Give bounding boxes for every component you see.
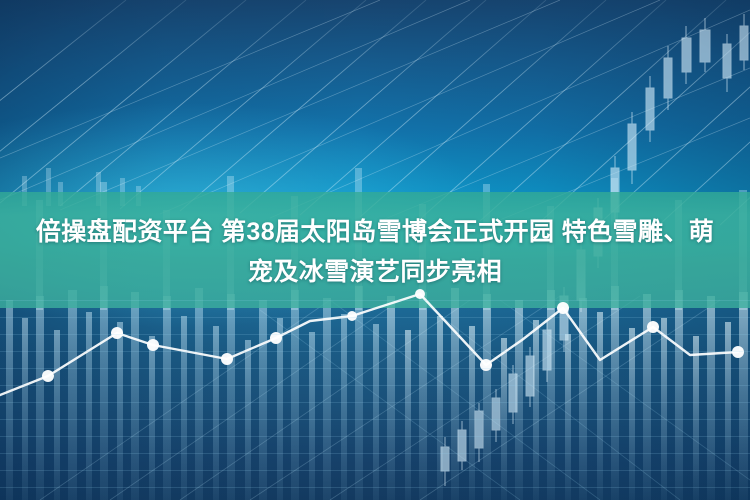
stock-market-banner: 倍操盘配资平台 第38届太阳岛雪博会正式开园 特色雪雕、萌 宠及冰雪演艺同步亮相 (0, 0, 750, 500)
vignette-overlay (0, 0, 750, 500)
